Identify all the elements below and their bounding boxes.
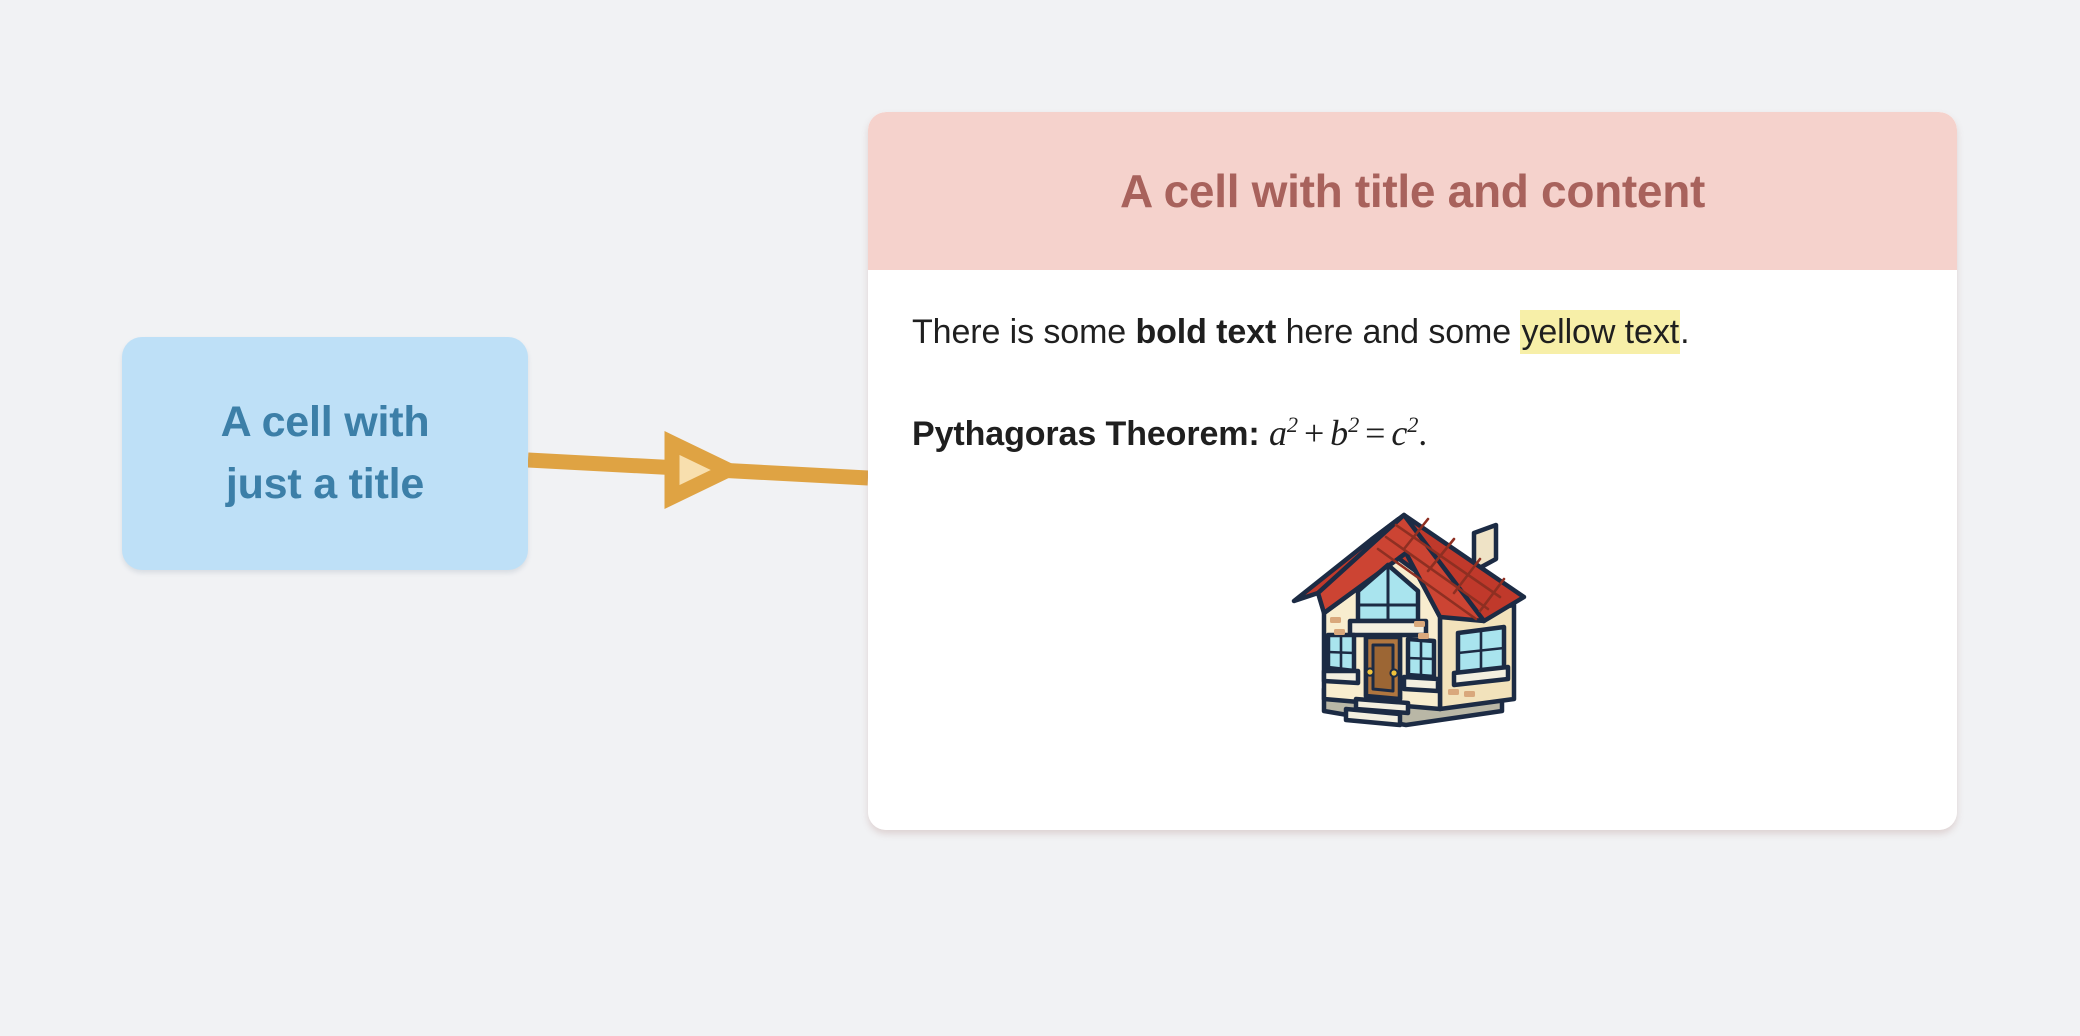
bold-text: bold text — [1135, 313, 1276, 351]
card-header-title: A cell with title and content — [1120, 164, 1705, 218]
math-operator-equals: = — [1359, 413, 1391, 453]
text-middle: here and some — [1276, 313, 1520, 351]
paragraph-pythagoras: Pythagoras Theorem: a2+b2=c2. — [912, 408, 1913, 459]
math-exp-c: 2 — [1407, 412, 1418, 437]
math-formula: a2+b2=c2 — [1269, 413, 1418, 453]
math-var-b: b — [1330, 413, 1348, 453]
cell-title-only-label: A cell with just a title — [221, 392, 430, 514]
math-suffix: . — [1418, 413, 1427, 453]
house-icon — [1288, 493, 1538, 738]
highlighted-text: yellow text — [1520, 310, 1680, 354]
cell-title-and-content[interactable]: A cell with title and content There is s… — [868, 112, 1957, 830]
text-prefix: There is some — [912, 313, 1135, 351]
space — [1260, 415, 1269, 453]
cell-title-only-line2: just a title — [226, 460, 424, 508]
arrowhead-icon — [672, 443, 728, 497]
card-body: There is some bold text here and some ye… — [868, 270, 1957, 830]
connector-line — [528, 460, 868, 478]
house-figure — [912, 493, 1913, 738]
math-operator-plus: + — [1298, 413, 1330, 453]
text-suffix: . — [1680, 313, 1689, 351]
math-var-a: a — [1269, 413, 1287, 453]
cell-title-only-line1: A cell with — [221, 398, 430, 446]
math-exp-b: 2 — [1348, 412, 1359, 437]
math-var-c: c — [1391, 413, 1407, 453]
cell-title-only[interactable]: A cell with just a title — [122, 337, 528, 570]
math-exp-a: 2 — [1287, 412, 1298, 437]
diagram-canvas: A cell with just a title A cell with tit… — [0, 0, 2080, 1036]
card-header: A cell with title and content — [868, 112, 1957, 270]
paragraph-bold-and-highlight: There is some bold text here and some ye… — [912, 308, 1913, 356]
pythagoras-label: Pythagoras Theorem: — [912, 415, 1260, 453]
